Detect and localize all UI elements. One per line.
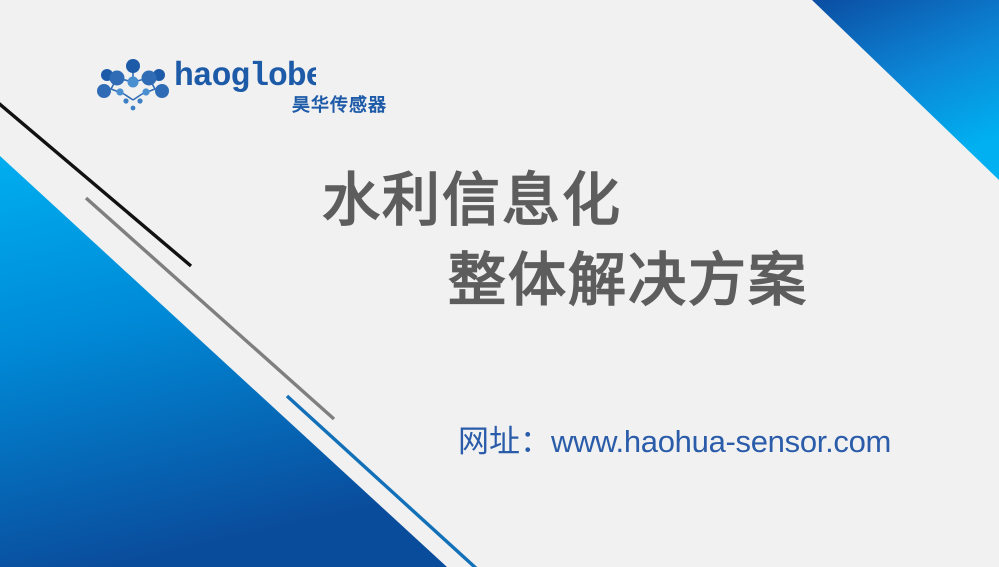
logo-subtitle-cn: 昊华传感器 — [292, 94, 404, 118]
title-line-2: 整体解决方案 — [0, 240, 999, 320]
website-label: 网址： — [458, 424, 551, 460]
company-logo[interactable]: haoglobe 昊华传感器 — [96, 54, 316, 122]
slide-title: 水利信息化 整体解决方案 — [0, 160, 999, 320]
website-url[interactable]: www.haohua-sensor.com — [551, 424, 891, 459]
haoglobe-wordmark: haoglobe — [174, 54, 316, 94]
network-nodes-icon — [96, 56, 170, 116]
website-line: 网址：www.haohua-sensor.com — [458, 420, 891, 464]
presentation-slide: haoglobe 昊华传感器 水利信息化 整体解决方案 网址：www.haohu… — [0, 0, 999, 567]
wordmark-text: haoglobe — [174, 58, 316, 94]
title-line-1: 水利信息化 — [0, 160, 999, 240]
